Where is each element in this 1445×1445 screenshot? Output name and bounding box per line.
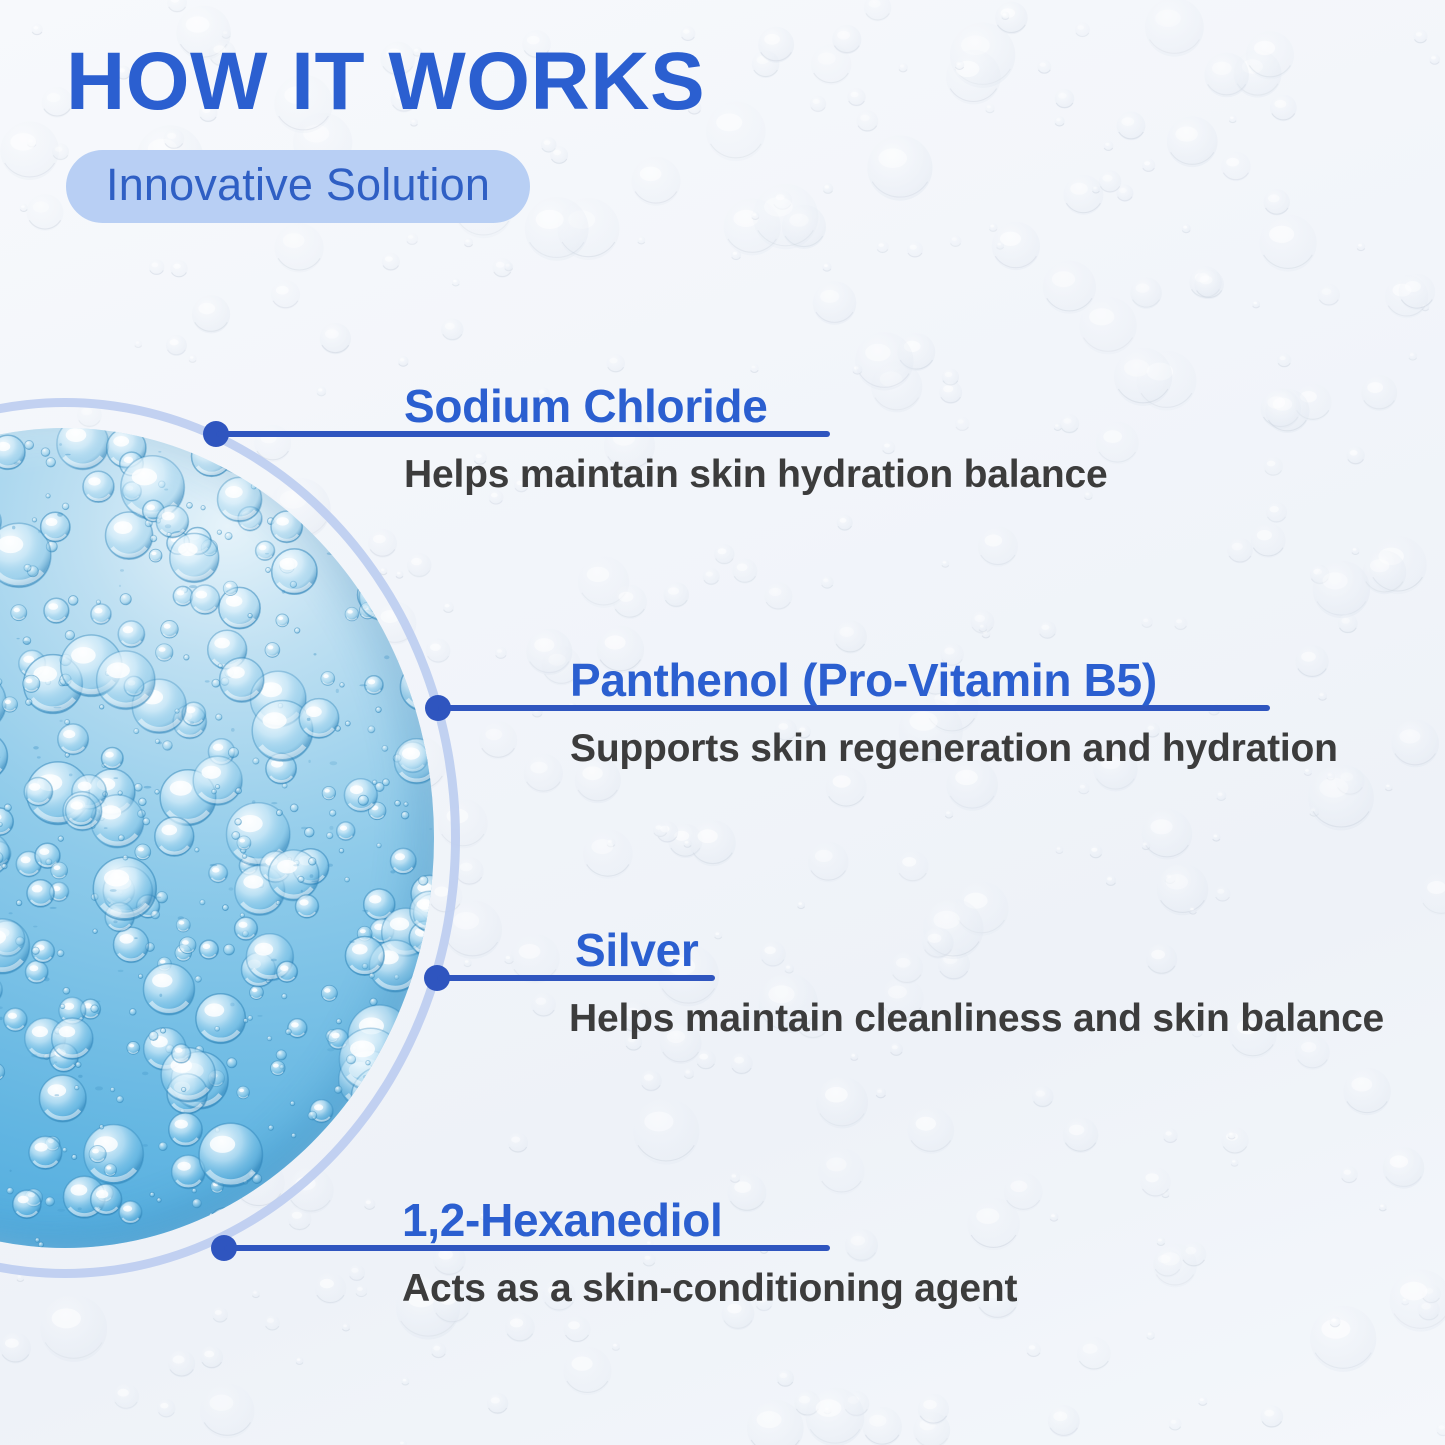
callout-title: 1,2-Hexanediol (402, 1197, 722, 1243)
infographic-canvas: HOW IT WORKS Innovative Solution (0, 0, 1445, 1445)
callout-description: Acts as a skin-conditioning agent (402, 1267, 1017, 1311)
page-title: HOW IT WORKS (66, 40, 705, 124)
blue-gel-serum-circle (0, 428, 434, 1248)
callout-title: Sodium Chloride (404, 383, 768, 429)
callout-description: Helps maintain skin hydration balance (404, 453, 1107, 497)
callout-description: Supports skin regeneration and hydration (570, 727, 1338, 771)
gel-circle-group (0, 398, 460, 1278)
callout-title: Silver (575, 927, 699, 973)
subtitle-badge: Innovative Solution (66, 150, 530, 223)
callout-title: Panthenol (Pro-Vitamin B5) (570, 657, 1157, 703)
callout-description: Helps maintain cleanliness and skin bala… (569, 997, 1384, 1041)
header-block: HOW IT WORKS Innovative Solution (66, 40, 705, 223)
